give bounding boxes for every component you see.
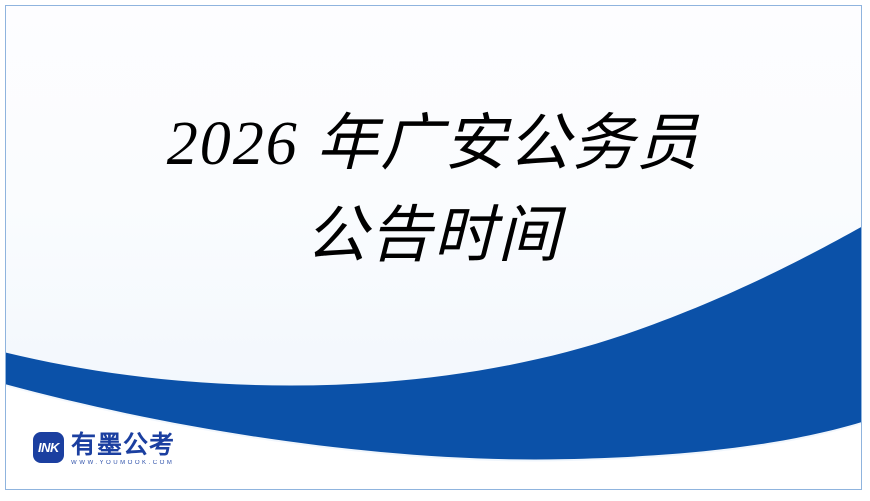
brand-name: 有墨公考 <box>71 432 175 458</box>
ink-badge-icon: INK <box>33 432 64 463</box>
brand-url: WWW.YOUMOOK.COM <box>71 459 177 467</box>
logo-text-group: 有墨公考 WWW.YOUMOOK.COM <box>71 432 175 467</box>
banner-frame: 2026 年广安公务员 公告时间 INK 有墨公考 WWW.YOUMOOK.CO… <box>5 5 862 490</box>
banner-image: 2026 年广安公务员 公告时间 INK 有墨公考 WWW.YOUMOOK.CO… <box>0 0 870 501</box>
brand-logo: INK 有墨公考 WWW.YOUMOOK.COM <box>33 432 175 467</box>
decorative-wave-graphic <box>6 6 861 489</box>
